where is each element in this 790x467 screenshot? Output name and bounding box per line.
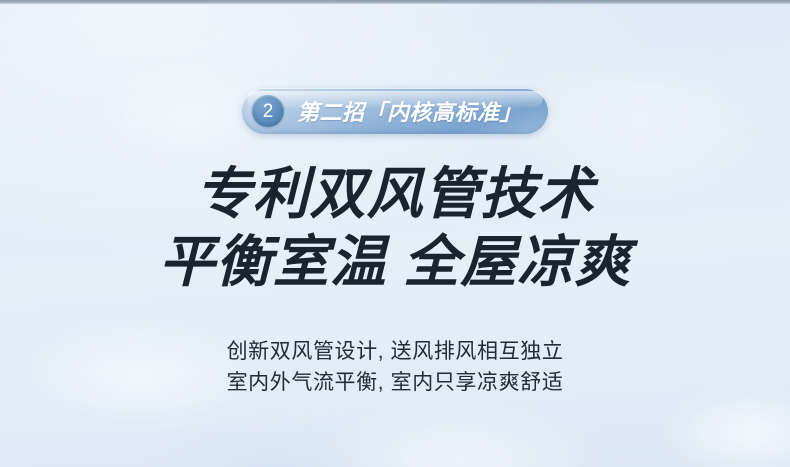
step-badge-container: 2 第二招「内核高标准」	[0, 88, 790, 134]
subtitle-line-2: 室内外气流平衡, 室内只享凉爽舒适	[0, 367, 790, 398]
headline-line-1: 专利双风管技术	[0, 160, 790, 228]
step-number-circle: 2	[252, 95, 284, 127]
subtitle-line-1: 创新双风管设计, 送风排风相互独立	[0, 336, 790, 367]
step-badge: 2 第二招「内核高标准」	[242, 88, 548, 134]
headline-line-2: 平衡室温 全屋凉爽	[0, 228, 790, 296]
step-badge-label: 第二招「内核高标准」	[297, 95, 522, 127]
top-edge-strip	[0, 0, 790, 4]
promo-poster: 2 第二招「内核高标准」 专利双风管技术 平衡室温 全屋凉爽 创新双风管设计, …	[0, 0, 790, 467]
subtitle-block: 创新双风管设计, 送风排风相互独立 室内外气流平衡, 室内只享凉爽舒适	[0, 336, 790, 398]
poster-content: 2 第二招「内核高标准」 专利双风管技术 平衡室温 全屋凉爽 创新双风管设计, …	[0, 0, 790, 467]
page-title: 专利双风管技术 平衡室温 全屋凉爽	[0, 160, 790, 296]
